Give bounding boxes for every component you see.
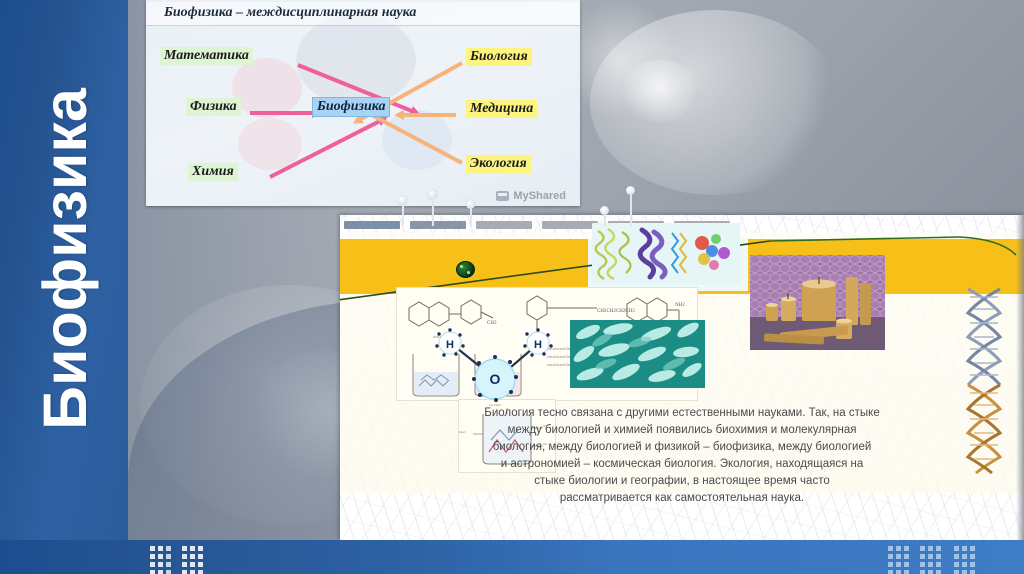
diagram-node-ecology[interactable]: Экология xyxy=(466,155,531,173)
paragraph-line: стыке биологии и географии, в настоящее … xyxy=(392,473,972,490)
dot xyxy=(936,570,941,574)
dot xyxy=(190,554,195,559)
paragraph-line: рассматривается как самостоятельная наук… xyxy=(392,490,972,507)
dot xyxy=(896,554,901,559)
dot xyxy=(166,554,171,559)
dot xyxy=(904,554,909,559)
dot xyxy=(182,570,187,574)
svg-text:NH2: NH2 xyxy=(675,303,685,308)
dot xyxy=(954,570,959,574)
pin-marker xyxy=(398,196,407,205)
dot xyxy=(970,546,975,551)
background-bubble xyxy=(590,10,840,195)
dot xyxy=(182,554,187,559)
diagram-node-biophysics[interactable]: Биофизика xyxy=(312,97,390,117)
arrow-biophysics-to-medicine xyxy=(394,112,456,118)
myshared-logo-icon xyxy=(496,191,509,201)
svg-text:CH2CH2CH2CH3: CH2CH2CH2CH3 xyxy=(597,309,635,314)
biology-collage-card: CH3 CH2CH2CH2CH3 H NH2 structure A react… xyxy=(340,215,1024,540)
dot xyxy=(970,570,975,574)
dot xyxy=(928,562,933,567)
dot xyxy=(158,546,163,551)
dot xyxy=(198,570,203,574)
dot xyxy=(190,546,195,551)
paragraph-line: биология, между биологией и физикой – би… xyxy=(392,439,972,456)
myshared-label: MyShared xyxy=(513,190,566,202)
dot xyxy=(954,554,959,559)
dot xyxy=(190,570,195,574)
dot xyxy=(888,562,893,567)
dot xyxy=(970,554,975,559)
bacteria-micrograph xyxy=(570,320,705,388)
page-title: Биофизика xyxy=(6,0,124,529)
dot xyxy=(920,570,925,574)
dot xyxy=(182,546,187,551)
protein-ribbon-svg xyxy=(592,223,740,285)
presentation-slide: Биофизика Биофизика – междисциплинарная … xyxy=(0,0,1024,574)
pin-marker xyxy=(428,190,437,199)
dot xyxy=(166,570,171,574)
dot xyxy=(920,554,925,559)
dot xyxy=(936,562,941,567)
protein-structures-image xyxy=(592,223,740,285)
dot xyxy=(190,562,195,567)
dot xyxy=(928,546,933,551)
dot xyxy=(920,562,925,567)
dot xyxy=(888,546,893,551)
hydrogen-label-right: H xyxy=(534,339,542,351)
collage-tab xyxy=(344,221,400,229)
dot xyxy=(166,562,171,567)
hydrogen-label-left: H xyxy=(446,339,454,351)
diagram-watermark-blob xyxy=(296,14,416,106)
background-bubble xyxy=(620,60,700,122)
pin-marker xyxy=(600,206,609,215)
dot xyxy=(936,546,941,551)
dot xyxy=(954,562,959,567)
water-molecule-svg: O H H xyxy=(420,315,570,405)
dot xyxy=(150,562,155,567)
green-bead-marker xyxy=(456,261,475,278)
interdisciplinary-diagram-card: Биофизика – междисциплинарная наука Мате… xyxy=(146,0,580,206)
collage-right-edge xyxy=(1016,215,1024,540)
dot xyxy=(970,562,975,567)
dot xyxy=(896,546,901,551)
diagram-title: Биофизика – междисциплинарная наука xyxy=(146,2,580,26)
dot xyxy=(158,562,163,567)
diagram-watermark-blob xyxy=(232,58,302,118)
dot xyxy=(962,546,967,551)
dot xyxy=(936,554,941,559)
diagram-node-physics[interactable]: Физика xyxy=(186,98,241,116)
collage-tab xyxy=(410,221,466,229)
dot xyxy=(962,562,967,567)
pin-marker xyxy=(626,186,635,195)
paragraph-line: и астрономией – космическая биология. Эк… xyxy=(392,456,972,473)
dot xyxy=(166,546,171,551)
dot xyxy=(896,562,901,567)
dot xyxy=(928,554,933,559)
paragraph-line: Биология тесно связана с другими естеств… xyxy=(392,405,972,422)
dot xyxy=(896,570,901,574)
dot xyxy=(928,570,933,574)
myshared-watermark: MyShared xyxy=(496,190,566,202)
dot xyxy=(888,554,893,559)
dot xyxy=(198,562,203,567)
collage-tab xyxy=(476,221,532,229)
dot xyxy=(920,546,925,551)
dot xyxy=(962,570,967,574)
dot xyxy=(182,562,187,567)
dot xyxy=(158,554,163,559)
dot xyxy=(158,570,163,574)
diagram-node-medicine[interactable]: Медицина xyxy=(466,100,537,118)
dot xyxy=(904,546,909,551)
dot xyxy=(150,570,155,574)
dot xyxy=(888,570,893,574)
paragraph-line: между биологией и химией появились биохи… xyxy=(392,422,972,439)
diagram-node-biology[interactable]: Биология xyxy=(466,48,532,66)
slide-title-band: Биофизика xyxy=(0,0,128,574)
diagram-node-chemistry[interactable]: Химия xyxy=(188,163,238,181)
diagram-node-mathematics[interactable]: Математика xyxy=(160,47,253,65)
oxygen-label: O xyxy=(490,371,501,387)
dot xyxy=(198,554,203,559)
dot xyxy=(150,546,155,551)
collage-tab xyxy=(542,221,598,229)
candles-svg xyxy=(750,255,885,350)
dot xyxy=(150,554,155,559)
water-molecule-diagram: O H H xyxy=(420,315,570,405)
dot xyxy=(904,570,909,574)
dot xyxy=(198,546,203,551)
pin-marker xyxy=(466,200,475,209)
beeswax-candles-photo xyxy=(750,255,885,350)
bacteria-svg xyxy=(570,320,705,388)
bottom-accent-strip xyxy=(0,540,1024,574)
dot xyxy=(962,554,967,559)
dot xyxy=(904,562,909,567)
dot xyxy=(954,546,959,551)
body-paragraph: Биология тесно связана с другими естеств… xyxy=(392,405,972,507)
